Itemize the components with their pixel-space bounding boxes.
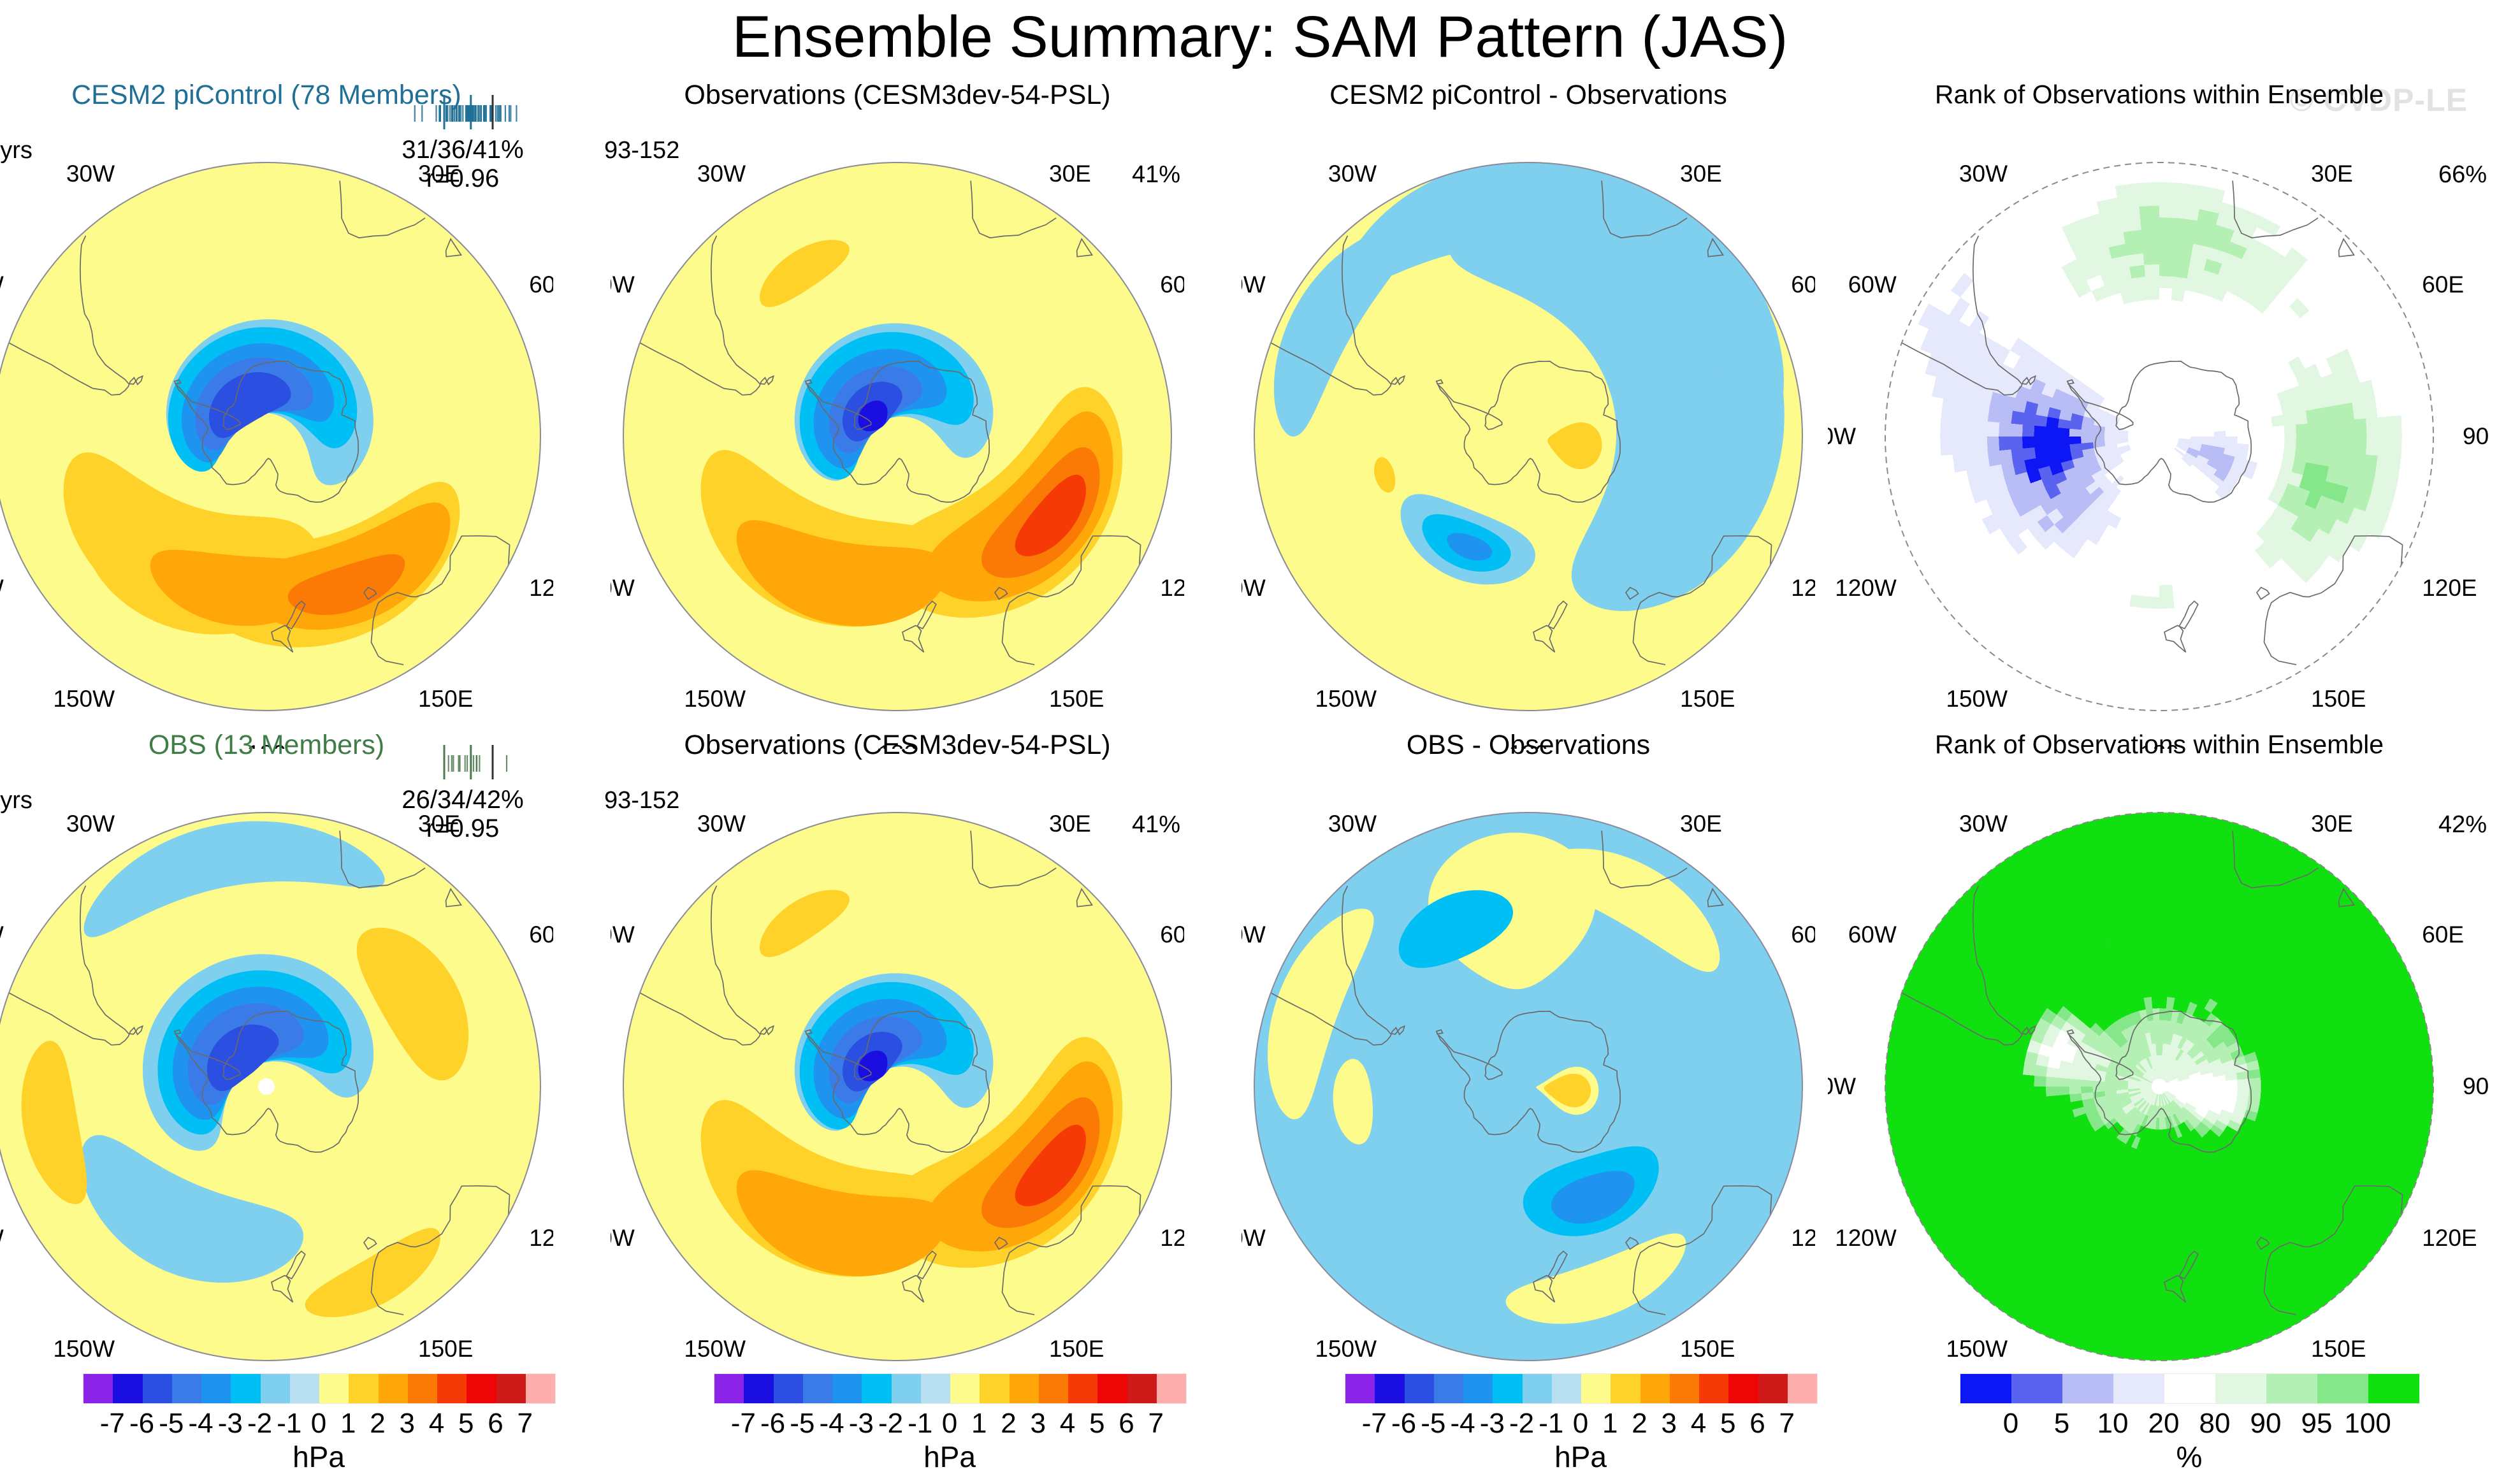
- svg-text:60W: 60W: [611, 271, 635, 298]
- map-psl[interactable]: 030E60E90E120E150E180150W120W90W60W30W: [611, 806, 1184, 1399]
- colorbar-cell: [1068, 1374, 1097, 1403]
- colorbar-cell: [231, 1374, 260, 1403]
- colorbar-cell: [803, 1374, 832, 1403]
- colorbar-rank-percent[interactable]: 051020809095100%: [1960, 1373, 2419, 1469]
- svg-text:120W: 120W: [611, 1225, 635, 1251]
- svg-text:120W: 120W: [611, 575, 635, 601]
- colorbar-strip: [1960, 1373, 2420, 1404]
- pole-marker: [258, 1078, 275, 1095]
- svg-text:150W: 150W: [1315, 1336, 1377, 1362]
- panel-title: Rank of Observations within Ensemble: [1828, 730, 2491, 760]
- colorbar-cell: [1523, 1374, 1552, 1403]
- colorbar-cell: [862, 1374, 891, 1403]
- colorbar-cell: [1611, 1374, 1640, 1403]
- colorbar-tick-label: 10: [2097, 1408, 2129, 1440]
- colorbar-tick-label: 1: [340, 1408, 356, 1440]
- panel-rank-row2[interactable]: Rank of Observations within Ensemble42%0…: [1828, 730, 2491, 1392]
- panel-title: OBS - Observations: [1242, 730, 1815, 761]
- colorbar-cell: [1728, 1374, 1758, 1403]
- colorbar-unit-label: hPa: [714, 1440, 1185, 1474]
- colorbar-cell: [2215, 1374, 2266, 1403]
- svg-text:150W: 150W: [53, 1336, 115, 1362]
- svg-text:90W: 90W: [1828, 1073, 1856, 1099]
- svg-text:60W: 60W: [1848, 271, 1897, 298]
- colorbar-ticks: 051020809095100: [1960, 1408, 2419, 1440]
- svg-text:60W: 60W: [0, 271, 4, 298]
- svg-text:150W: 150W: [1946, 1336, 2008, 1362]
- svg-text:60W: 60W: [1848, 921, 1897, 948]
- colorbar-cell: [349, 1374, 378, 1403]
- map-field: [623, 163, 1171, 711]
- colorbar-tick-label: 7: [518, 1408, 533, 1440]
- svg-text:60E: 60E: [1160, 921, 1184, 948]
- panel-title: Observations (CESM3dev-54-PSL): [611, 730, 1184, 761]
- svg-text:120W: 120W: [0, 575, 4, 601]
- svg-text:30W: 30W: [1328, 811, 1377, 837]
- colorbar-tick-label: -7: [731, 1408, 756, 1440]
- ensemble-distribution-rug: [395, 90, 542, 136]
- svg-text:150E: 150E: [1049, 686, 1104, 712]
- colorbar-cell: [1581, 1374, 1611, 1403]
- svg-text:120W: 120W: [1835, 1225, 1897, 1251]
- colorbar-ticks: -7-6-5-4-3-2-101234567: [83, 1408, 554, 1440]
- colorbar-cell: [437, 1374, 467, 1403]
- map-psl[interactable]: 030E60E90E120E150E180150W120W90W60W30W: [0, 156, 553, 749]
- colorbar-tick-label: -1: [908, 1408, 932, 1440]
- colorbar-tick-label: -7: [1362, 1408, 1387, 1440]
- colorbar-cell: [1670, 1374, 1699, 1403]
- colorbar-tick-label: 3: [1031, 1408, 1046, 1440]
- svg-text:150E: 150E: [2311, 1336, 2366, 1362]
- colorbar-cell: [1345, 1374, 1375, 1403]
- colorbar-cell: [83, 1374, 113, 1403]
- colorbar-tick-label: 2: [1001, 1408, 1016, 1440]
- svg-text:30E: 30E: [418, 161, 460, 187]
- panel-rank-row1[interactable]: Rank of Observations within Ensemble66%0…: [1828, 80, 2491, 742]
- colorbar-tick-label: 5: [2054, 1408, 2069, 1440]
- map-field: [1254, 813, 1802, 1361]
- panel-title: Rank of Observations within Ensemble: [1828, 80, 2491, 110]
- colorbar-strip: [83, 1373, 556, 1404]
- svg-text:60E: 60E: [1160, 271, 1184, 298]
- panel-cesm2-minus-observations[interactable]: CESM2 piControl - Observations030E60E90E…: [1242, 80, 1815, 742]
- colorbar-cell: [2317, 1374, 2368, 1403]
- colorbar-tick-label: -2: [1509, 1408, 1534, 1440]
- svg-text:60W: 60W: [1242, 271, 1266, 298]
- colorbar-cell: [1127, 1374, 1157, 1403]
- svg-text:60W: 60W: [611, 921, 635, 948]
- colorbar-tick-label: -2: [247, 1408, 272, 1440]
- svg-text:30E: 30E: [418, 811, 460, 837]
- colorbar-tick-label: -4: [1450, 1408, 1475, 1440]
- svg-text:150E: 150E: [418, 686, 473, 712]
- svg-text:30W: 30W: [66, 161, 115, 187]
- colorbar-tick-label: 4: [1691, 1408, 1706, 1440]
- svg-text:120E: 120E: [2422, 1225, 2477, 1251]
- ensemble-distribution-rug: [395, 740, 542, 786]
- colorbar-tick-label: -6: [760, 1408, 785, 1440]
- colorbar-tick-label: 6: [1749, 1408, 1765, 1440]
- svg-text:150W: 150W: [1315, 686, 1377, 712]
- svg-text:30E: 30E: [2311, 811, 2353, 837]
- colorbar-cell: [1493, 1374, 1522, 1403]
- colorbar-cell: [980, 1374, 1009, 1403]
- svg-text:150W: 150W: [684, 686, 746, 712]
- svg-text:150W: 150W: [684, 1336, 746, 1362]
- colorbar-tick-label: 2: [1632, 1408, 1647, 1440]
- colorbar-unit-label: %: [1960, 1440, 2419, 1474]
- colorbar-cell: [1788, 1374, 1817, 1403]
- colorbar-unit-label: hPa: [1345, 1440, 1816, 1474]
- colorbar-ticks: -7-6-5-4-3-2-101234567: [714, 1408, 1185, 1440]
- colorbar-cell: [290, 1374, 319, 1403]
- colorbar-cell: [1758, 1374, 1788, 1403]
- panel-title: CESM2 piControl - Observations: [1242, 80, 1815, 111]
- svg-text:60W: 60W: [1242, 921, 1266, 948]
- colorbar-cell: [2113, 1374, 2164, 1403]
- svg-text:30E: 30E: [1680, 811, 1722, 837]
- colorbar-tick-label: 4: [1060, 1408, 1075, 1440]
- colorbar-tick-label: 1: [1602, 1408, 1618, 1440]
- colorbar-tick-label: 95: [2301, 1408, 2333, 1440]
- colorbar-hpa-1[interactable]: -7-6-5-4-3-2-101234567hPa: [83, 1373, 554, 1469]
- svg-text:60E: 60E: [2422, 271, 2464, 298]
- svg-text:120W: 120W: [1242, 1225, 1266, 1251]
- colorbar-cell: [1010, 1374, 1039, 1403]
- colorbar-strip: [1345, 1373, 1818, 1404]
- colorbar-tick-label: 2: [370, 1408, 385, 1440]
- colorbar-ticks: -7-6-5-4-3-2-101234567: [1345, 1408, 1816, 1440]
- colorbar-cell: [496, 1374, 526, 1403]
- colorbar-tick-label: 4: [429, 1408, 444, 1440]
- colorbar-tick-label: 5: [1720, 1408, 1735, 1440]
- colorbar-tick-label: -5: [1421, 1408, 1445, 1440]
- colorbar-hpa-2[interactable]: -7-6-5-4-3-2-101234567hPa: [714, 1373, 1185, 1469]
- svg-text:60E: 60E: [529, 921, 553, 948]
- svg-text:150E: 150E: [1680, 686, 1735, 712]
- svg-text:120E: 120E: [1160, 575, 1184, 601]
- colorbar-tick-label: 80: [2199, 1408, 2231, 1440]
- svg-text:30W: 30W: [1959, 811, 2008, 837]
- panel-obs-members[interactable]: OBS (13 Members)60yrs26/34/42%r=0.95030E…: [0, 730, 553, 1392]
- svg-text:60E: 60E: [1791, 271, 1815, 298]
- svg-text:120W: 120W: [1242, 575, 1266, 601]
- colorbar-cell: [379, 1374, 408, 1403]
- colorbar-cell: [143, 1374, 172, 1403]
- svg-text:120E: 120E: [1160, 1225, 1184, 1251]
- colorbar-cell: [1640, 1374, 1670, 1403]
- colorbar-tick-label: 0: [311, 1408, 326, 1440]
- colorbar-tick-label: -3: [849, 1408, 874, 1440]
- colorbar-tick-label: 6: [488, 1408, 503, 1440]
- colorbar-cell: [261, 1374, 290, 1403]
- colorbar-cell: [2062, 1374, 2113, 1403]
- colorbar-cell: [172, 1374, 201, 1403]
- svg-text:150W: 150W: [53, 686, 115, 712]
- svg-text:120E: 120E: [2422, 575, 2477, 601]
- colorbar-cell: [950, 1374, 980, 1403]
- colorbar-cell: [1960, 1374, 2011, 1403]
- map-rank[interactable]: 030E60E90E120E150E180150W120W90W60W30W: [1828, 806, 2491, 1399]
- colorbar-cell: [1434, 1374, 1463, 1403]
- colorbar-cell: [1405, 1374, 1434, 1403]
- colorbar-tick-label: 6: [1119, 1408, 1134, 1440]
- svg-text:30E: 30E: [1680, 161, 1722, 187]
- colorbar-tick-label: 3: [400, 1408, 415, 1440]
- colorbar-tick-label: -3: [1480, 1408, 1505, 1440]
- colorbar-tick-label: 0: [942, 1408, 957, 1440]
- svg-text:30E: 30E: [2311, 161, 2353, 187]
- svg-text:60E: 60E: [2422, 921, 2464, 948]
- colorbar-cell: [1157, 1374, 1186, 1403]
- colorbar-cell: [774, 1374, 803, 1403]
- svg-text:150E: 150E: [1680, 1336, 1735, 1362]
- colorbar-cell: [714, 1374, 744, 1403]
- map-psl[interactable]: 030E60E90E120E150E180150W120W90W60W30W: [611, 156, 1184, 749]
- map-field: [1885, 163, 2433, 711]
- svg-text:60W: 60W: [0, 921, 4, 948]
- colorbar-tick-label: 5: [1089, 1408, 1104, 1440]
- colorbar-cell: [113, 1374, 142, 1403]
- panel-title: Observations (CESM3dev-54-PSL): [611, 80, 1184, 111]
- colorbar-cell: [892, 1374, 921, 1403]
- colorbar-tick-label: 0: [1573, 1408, 1588, 1440]
- colorbar-cell: [526, 1374, 555, 1403]
- colorbar-tick-label: -6: [129, 1408, 154, 1440]
- panel-obs-minus-observations[interactable]: OBS - Observations030E60E90E120E150E1801…: [1242, 730, 1815, 1392]
- colorbar-tick-label: 3: [1662, 1408, 1677, 1440]
- colorbar-cell: [319, 1374, 349, 1403]
- map-psl[interactable]: 030E60E90E120E150E180150W120W90W60W30W: [0, 806, 553, 1399]
- colorbar-tick-label: -1: [1539, 1408, 1563, 1440]
- colorbar-unit-label: hPa: [83, 1440, 554, 1474]
- colorbar-cell: [1375, 1374, 1404, 1403]
- colorbar-cell: [1463, 1374, 1493, 1403]
- colorbar-tick-label: -4: [188, 1408, 213, 1440]
- panel-cesm2-picontrol[interactable]: CESM2 piControl (78 Members)60yrs31/36/4…: [0, 80, 553, 742]
- map-diff[interactable]: 030E60E90E120E150E180150W120W90W60W30W: [1242, 156, 1815, 749]
- svg-text:60E: 60E: [1791, 921, 1815, 948]
- svg-text:30E: 30E: [1049, 161, 1091, 187]
- svg-text:30W: 30W: [1959, 161, 2008, 187]
- colorbar-cell: [2266, 1374, 2317, 1403]
- svg-text:120W: 120W: [1835, 575, 1897, 601]
- colorbar-cell: [921, 1374, 950, 1403]
- map-diff[interactable]: 030E60E90E120E150E180150W120W90W60W30W: [1242, 806, 1815, 1399]
- colorbar-tick-label: 7: [1148, 1408, 1164, 1440]
- colorbar-cell: [1039, 1374, 1068, 1403]
- svg-text:30W: 30W: [1328, 161, 1377, 187]
- map-rank[interactable]: 030E60E90E120E150E180150W120W90W60W30W: [1828, 156, 2491, 749]
- svg-text:120E: 120E: [1791, 1225, 1815, 1251]
- colorbar-cell: [2368, 1374, 2419, 1403]
- svg-text:30E: 30E: [1049, 811, 1091, 837]
- svg-text:60E: 60E: [529, 271, 553, 298]
- colorbar-tick-label: 7: [1779, 1408, 1795, 1440]
- panel-observations-row1[interactable]: Observations (CESM3dev-54-PSL)93-15241%0…: [611, 80, 1184, 742]
- colorbar-tick-label: 20: [2148, 1408, 2180, 1440]
- svg-text:120W: 120W: [0, 1225, 4, 1251]
- colorbar-tick-label: -7: [100, 1408, 125, 1440]
- colorbar-tick-label: 90: [2250, 1408, 2282, 1440]
- svg-text:120E: 120E: [529, 575, 553, 601]
- page-title: Ensemble Summary: SAM Pattern (JAS): [0, 4, 2520, 71]
- colorbar-tick-label: -5: [159, 1408, 184, 1440]
- figure-canvas: Ensemble Summary: SAM Pattern (JAS) © CV…: [0, 0, 2520, 1467]
- colorbar-tick-label: 5: [458, 1408, 474, 1440]
- map-field: [1881, 809, 2437, 1364]
- svg-text:90E: 90E: [2463, 423, 2491, 449]
- svg-text:120E: 120E: [1791, 575, 1815, 601]
- colorbar-tick-label: -3: [218, 1408, 243, 1440]
- svg-text:90E: 90E: [2463, 1073, 2491, 1099]
- colorbar-strip: [714, 1373, 1187, 1404]
- svg-text:30W: 30W: [66, 811, 115, 837]
- svg-text:90W: 90W: [1828, 423, 1856, 449]
- svg-text:150E: 150E: [1049, 1336, 1104, 1362]
- svg-text:150E: 150E: [418, 1336, 473, 1362]
- svg-text:30W: 30W: [697, 161, 746, 187]
- colorbar-tick-label: -6: [1391, 1408, 1416, 1440]
- colorbar-cell: [2011, 1374, 2062, 1403]
- colorbar-cell: [744, 1374, 773, 1403]
- panel-observations-row2[interactable]: Observations (CESM3dev-54-PSL)93-15241%0…: [611, 730, 1184, 1392]
- colorbar-cell: [2164, 1374, 2215, 1403]
- colorbar-cell: [201, 1374, 231, 1403]
- colorbar-hpa-3[interactable]: -7-6-5-4-3-2-101234567hPa: [1345, 1373, 1816, 1469]
- colorbar-tick-label: -1: [277, 1408, 301, 1440]
- colorbar-cell: [467, 1374, 496, 1403]
- svg-text:120E: 120E: [529, 1225, 553, 1251]
- svg-text:30W: 30W: [697, 811, 746, 837]
- colorbar-cell: [1552, 1374, 1581, 1403]
- map-field: [623, 813, 1171, 1361]
- colorbar-tick-label: 0: [2003, 1408, 2018, 1440]
- map-field: [1254, 157, 1802, 711]
- colorbar-cell: [1097, 1374, 1127, 1403]
- svg-text:150W: 150W: [1946, 686, 2008, 712]
- colorbar-cell: [832, 1374, 862, 1403]
- colorbar-cell: [1699, 1374, 1728, 1403]
- colorbar-tick-label: -4: [819, 1408, 844, 1440]
- colorbar-tick-label: 1: [971, 1408, 987, 1440]
- colorbar-tick-label: 100: [2344, 1408, 2391, 1440]
- colorbar-cell: [408, 1374, 437, 1403]
- colorbar-tick-label: -5: [790, 1408, 815, 1440]
- svg-text:150E: 150E: [2311, 686, 2366, 712]
- colorbar-tick-label: -2: [878, 1408, 903, 1440]
